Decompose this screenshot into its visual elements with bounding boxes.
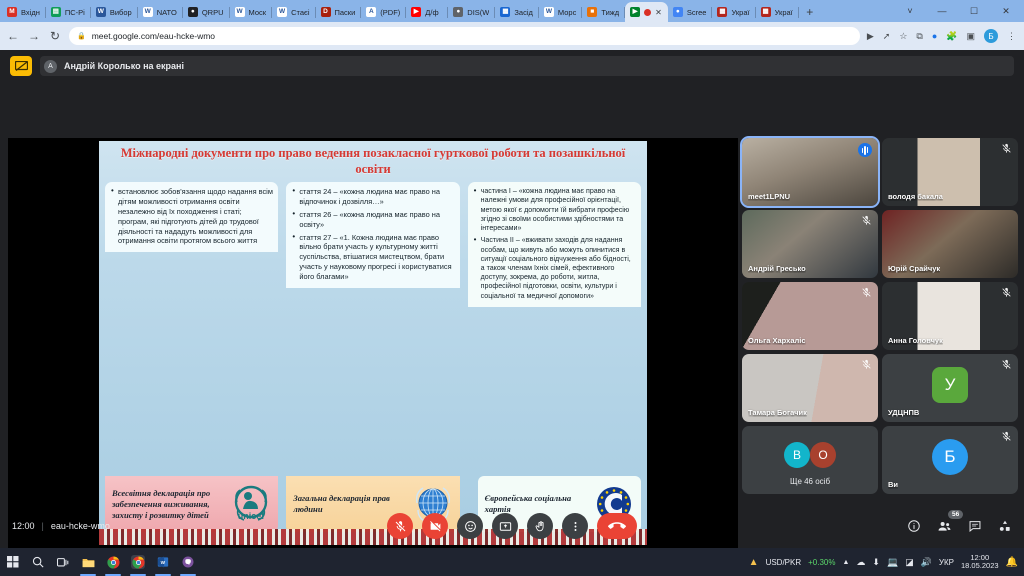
participant-tile[interactable]: Ольга Хархаліс (742, 282, 878, 350)
bullet-item: встановлює зобов'язання щодо надання всі… (111, 187, 273, 246)
mic-off-icon (1001, 287, 1012, 298)
meet-right-controls: 56 (907, 519, 1012, 534)
participant-name: Анна Головчук (888, 336, 943, 345)
browser-tab-label: Вибор (110, 8, 132, 17)
participant-tile[interactable]: Анна Головчук (882, 282, 1018, 350)
meeting-info: 12:00 | eau-hcke-wmo (12, 521, 110, 531)
slide: Міжнародні документи про право ведення п… (99, 141, 647, 545)
meeting-time: 12:00 (12, 521, 35, 531)
slide-column-3-body: частина I – «кожна людина має право на н… (468, 182, 641, 307)
bullet-item: стаття 26 – «кожна людина має право на о… (292, 210, 454, 230)
participant-name: володя бакала (888, 192, 943, 201)
word-icon: W (277, 7, 287, 17)
bullet-item: частина I – «кожна людина має право на н… (474, 187, 636, 233)
clock[interactable]: 12:00 18.05.2023 (961, 554, 999, 570)
participant-name: Ще 46 осіб (742, 477, 878, 486)
browser-tab-label: Тижд (601, 8, 619, 17)
media-control-icon[interactable]: ▶︎ (867, 31, 874, 42)
participant-avatar: О (810, 442, 836, 468)
participant-grid: meet1LPNUволодя бакалаАндрій ГреськоЮрій… (742, 138, 1018, 494)
browser-tab[interactable]: ▦Засід (495, 2, 539, 22)
participant-tile[interactable]: Тамара Богачик (742, 354, 878, 422)
participant-tile[interactable]: meet1LPNU (742, 138, 878, 206)
browser-tab-label: Украї (731, 8, 749, 17)
slide-title: Міжнародні документи про право ведення п… (99, 141, 647, 180)
browser-tab-label: (PDF) (380, 8, 400, 17)
globe-icon: ● (188, 7, 198, 17)
lock-icon: 🔒 (77, 32, 86, 40)
meeting-details-button[interactable] (907, 519, 921, 533)
sync-dot-icon[interactable]: ● (932, 31, 937, 41)
browser-tab[interactable]: ■Тижд (582, 2, 625, 22)
browser-tab[interactable]: WСтаєі (272, 2, 315, 22)
network-icon[interactable]: 💻 (887, 557, 898, 568)
browser-tab-label: Морс (558, 8, 576, 17)
volume-icon[interactable]: 🔊 (921, 557, 932, 568)
separator: | (42, 521, 44, 531)
flag-icon: ▦ (717, 7, 727, 17)
meet-bottom-bar: 12:00 | eau-hcke-wmo (0, 504, 1024, 548)
presenting-bar: А Андрій Королько на екрані (0, 50, 1024, 78)
ticker-change: +0.30% (808, 558, 835, 567)
participant-count-badge: 56 (948, 510, 963, 519)
bookmark-star-icon[interactable]: ☆ (899, 31, 907, 42)
more-options-button[interactable] (562, 513, 588, 539)
participant-name: Тамара Богачик (748, 408, 807, 417)
forward-arrow-icon[interactable]: → (27, 29, 41, 43)
raise-hand-button[interactable] (527, 513, 553, 539)
gmail-icon: M (7, 7, 17, 17)
browser-tab[interactable]: ▤ПС-Рі (46, 2, 91, 22)
folder-icon[interactable] (81, 555, 95, 569)
browser-tab-label: QRPU (202, 8, 224, 17)
participant-name: Ольга Хархаліс (748, 336, 806, 345)
notification-icon[interactable]: 🔔 (1006, 557, 1018, 568)
participant-tile[interactable]: Юрій Срайчук (882, 210, 1018, 278)
mic-off-icon (1001, 431, 1012, 442)
word-icon: W (544, 7, 554, 17)
globe-icon: ● (453, 7, 463, 17)
system-tray: ▲ USD/PKR +0.30% ▲ ☁ ⬇ 💻 ◪ 🔊 УКР 12:00 1… (749, 554, 1018, 570)
browser-tab[interactable]: WМорс (539, 2, 582, 22)
browser-tab[interactable]: DПаски (316, 2, 362, 22)
bullet-item: стаття 24 – «кожна людина має право на в… (292, 187, 454, 207)
close-button[interactable]: ✕ (990, 0, 1022, 22)
browser-tab-label: Моск (249, 8, 267, 17)
extensions-puzzle-icon[interactable]: 🧩 (946, 31, 957, 42)
viber-icon[interactable] (181, 555, 195, 569)
browser-tab[interactable]: ●DIS(W (448, 2, 495, 22)
chrome-icon[interactable] (106, 555, 120, 569)
news-icon: ■ (587, 7, 597, 17)
browser-tab[interactable]: WNATO (138, 2, 183, 22)
profile-avatar[interactable]: Б (984, 29, 998, 43)
browser-tab[interactable]: ▦Украї (756, 2, 799, 22)
chat-button[interactable] (968, 519, 982, 533)
sidebar-icon[interactable]: ▣ (966, 31, 975, 42)
presentation-stage[interactable]: Міжнародні документи про право ведення п… (8, 138, 738, 548)
participant-name: meet1LPNU (748, 192, 790, 201)
meet-icon: ▶ (630, 7, 640, 17)
share-icon[interactable]: ➚ (883, 31, 891, 42)
participant-avatar: Б (932, 439, 968, 475)
blue-dot-icon: ● (673, 7, 683, 17)
onedrive-icon[interactable]: ☁ (856, 557, 865, 568)
browser-tab[interactable]: WВибор (91, 2, 138, 22)
mic-off-icon (861, 359, 872, 370)
browser-tabstrip: MВхідн▤ПС-РіWВиборWNATO●QRPUWМоскWСтаєіD… (0, 0, 1024, 22)
maximize-button[interactable]: ☐ (958, 0, 990, 22)
jamboard-icon: ▦ (500, 7, 510, 17)
chrome-icon-2[interactable] (131, 555, 145, 569)
slide-column-1: встановлює зобов'язання щодо надання всі… (105, 182, 278, 532)
bullet-item: стаття 27 – «1. Кожна людина має право в… (292, 233, 454, 282)
slide-column-2: стаття 24 – «кожна людина має право на в… (286, 182, 459, 532)
window-controls: ˅ — ☐ ✕ (894, 0, 1024, 22)
svg-text:W: W (161, 560, 166, 565)
office-icon[interactable]: W (156, 555, 170, 569)
youtube-icon: ▶ (411, 7, 421, 17)
bullet-item: Частина II – «вживати заходів для наданн… (474, 236, 636, 301)
overflow-avatars: ВО (784, 442, 836, 468)
reload-icon[interactable]: ↻ (48, 29, 62, 43)
participant-name: Андрій Гресько (748, 264, 806, 273)
clock-date: 18.05.2023 (961, 562, 999, 570)
new-tab-button[interactable]: + (799, 2, 821, 22)
minimize-button[interactable]: — (926, 0, 958, 22)
presenter-avatar: А (44, 60, 57, 73)
word-icon: W (235, 7, 245, 17)
microphone-off-button[interactable] (387, 513, 413, 539)
sheets-icon: ▤ (51, 7, 61, 17)
browser-tab-label: NATO (157, 8, 177, 17)
browser-toolbar: ← → ↻ 🔒 meet.google.com/eau-hcke-wmo ▶︎ … (0, 22, 1024, 50)
participant-tile[interactable]: володя бакала (882, 138, 1018, 206)
ticker-icon: ▲ (749, 557, 759, 568)
participant-tile[interactable]: ВОЩе 46 осіб (742, 426, 878, 494)
slide-column-3: частина I – «кожна людина має право на н… (468, 182, 641, 532)
mic-off-icon (861, 287, 872, 298)
browser-tab[interactable]: ▶Д/ф (406, 2, 448, 22)
browser-tab-label: Scree (687, 8, 707, 17)
mic-off-icon (1001, 359, 1012, 370)
browser-tab-label: Паски (335, 8, 356, 17)
browser-tab[interactable]: A(PDF) (361, 2, 406, 22)
browser-tab[interactable]: MВхідн (2, 2, 46, 22)
participant-name: УДЦНПВ (888, 408, 919, 417)
browser-tab-label: Украї (775, 8, 793, 17)
browser-tab-label: ПС-Рі (65, 8, 85, 17)
activities-button[interactable] (998, 519, 1012, 533)
windows-icon[interactable] (6, 555, 20, 569)
browser-tab[interactable]: ▦Украї (712, 2, 755, 22)
browser-tab-label: DIS(W (467, 8, 489, 17)
participant-tile[interactable]: Андрій Гресько (742, 210, 878, 278)
present-screen-button[interactable] (492, 513, 518, 539)
tab-search-button[interactable]: ˅ (894, 0, 926, 22)
slide-column-1-body: встановлює зобов'язання щодо надання всі… (105, 182, 278, 252)
participant-tile[interactable]: БВи (882, 426, 1018, 494)
flag-icon: ▦ (761, 7, 771, 17)
mic-off-icon (861, 215, 872, 226)
browser-tab-label: Вхідн (21, 8, 40, 17)
drive-icon: D (321, 7, 331, 17)
participant-tile[interactable]: УУДЦНПВ (882, 354, 1018, 422)
url-text: meet.google.com/eau-hcke-wmo (92, 31, 215, 41)
download-icon[interactable]: ⬇ (872, 557, 880, 568)
emoji-reactions-button[interactable] (457, 513, 483, 539)
windows-taskbar: W ▲ USD/PKR +0.30% ▲ ☁ ⬇ 💻 ◪ 🔊 УКР 12:00… (0, 548, 1024, 576)
acrobat-icon: A (366, 7, 376, 17)
chevron-up-icon[interactable]: ▲ (842, 559, 849, 566)
chrome-menu-icon[interactable]: ⋮ (1007, 31, 1016, 42)
browser-tab-label: Д/ф (425, 8, 438, 17)
meeting-code: eau-hcke-wmo (51, 521, 110, 531)
participant-name: Ви (888, 480, 898, 489)
browser-tab[interactable]: ●QRPU (183, 2, 230, 22)
ticker-label[interactable]: USD/PKR (766, 558, 802, 567)
show-everyone-button[interactable] (937, 519, 952, 534)
browser-tab[interactable]: ▶✕ (625, 2, 668, 22)
participant-avatar: У (932, 367, 968, 403)
back-arrow-icon[interactable]: ← (6, 29, 20, 43)
browser-tab-label: Стаєі (291, 8, 309, 17)
stop-presenting-icon[interactable] (10, 56, 32, 76)
camera-off-button[interactable] (422, 513, 448, 539)
wifi-icon[interactable]: ◪ (905, 557, 914, 568)
address-bar[interactable]: 🔒 meet.google.com/eau-hcke-wmo (69, 27, 860, 45)
slide-column-2-body: стаття 24 – «кожна людина має право на в… (286, 182, 459, 288)
call-controls (387, 513, 637, 539)
taskbar-items: W (6, 555, 195, 569)
word-icon: W (96, 7, 106, 17)
tab-close-icon[interactable]: ✕ (655, 8, 662, 17)
task-view-icon[interactable] (56, 555, 70, 569)
recording-dot-icon (644, 9, 651, 16)
browser-tab-label: Засід (514, 8, 533, 17)
presenting-label: Андрій Королько на екрані (64, 61, 184, 71)
browser-tab[interactable]: ●Scree (668, 2, 713, 22)
participant-name: Юрій Срайчук (888, 264, 940, 273)
split-screen-icon[interactable]: ⧉ (916, 31, 922, 42)
google-meet-app: А Андрій Королько на екрані Міжнародні д… (0, 50, 1024, 548)
leave-call-button[interactable] (597, 513, 637, 539)
presenting-chip[interactable]: А Андрій Королько на екрані (40, 56, 1014, 76)
browser-tab[interactable]: WМоск (230, 2, 273, 22)
mic-off-icon (1001, 143, 1012, 154)
search-icon[interactable] (31, 555, 45, 569)
participant-avatar: В (784, 442, 810, 468)
language-indicator[interactable]: УКР (939, 558, 954, 567)
word-icon: W (143, 7, 153, 17)
speaking-indicator-icon (858, 143, 872, 157)
